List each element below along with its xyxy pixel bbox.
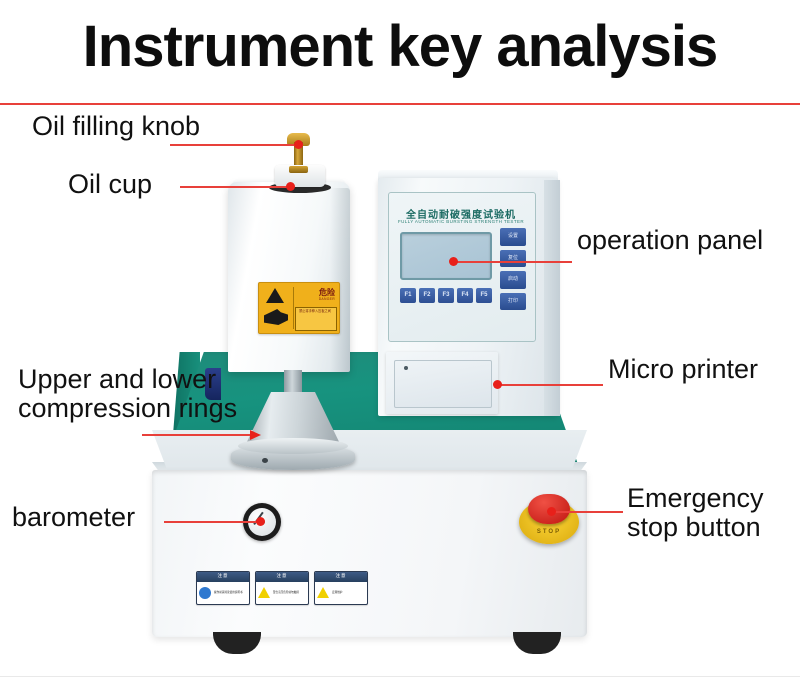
caution-body: 警告高压危险切勿触摸 xyxy=(256,582,308,604)
function-key-f3[interactable]: F3 xyxy=(438,288,454,303)
caution-header-chinese: 注意 xyxy=(315,572,367,582)
printer-status-led-icon xyxy=(404,366,408,370)
warning-triangle-icon xyxy=(317,587,330,599)
caution-sticker: 注意 警告高压危险切勿触摸 xyxy=(255,571,309,605)
leader-line-operation-panel xyxy=(453,261,572,263)
caution-text-chinese: 定期维护 xyxy=(332,591,365,595)
caution-sticker: 注意 操作前请阅读使用说明书 xyxy=(196,571,250,605)
leader-dot-oil-cup xyxy=(286,182,295,191)
caution-sticker-row: 注意 操作前请阅读使用说明书 注意 警告高压危险切勿触摸 注意 定期维护 xyxy=(196,571,368,605)
side-key-reset[interactable]: 复位 xyxy=(500,250,526,268)
side-key-column[interactable]: 设置 复位 启动 打印 xyxy=(500,228,526,310)
leader-line-micro-printer xyxy=(497,384,603,386)
hand-crush-icon xyxy=(264,309,288,325)
side-key-start[interactable]: 启动 xyxy=(500,271,526,289)
function-key-row[interactable]: F1 F2 F3 F4 F5 xyxy=(400,288,492,303)
sticker-divider xyxy=(293,287,294,329)
callout-label-emergency-stop-line2: stop button xyxy=(627,512,761,542)
function-key-f5[interactable]: F5 xyxy=(476,288,492,303)
caution-text-chinese: 操作前请阅读使用说明书 xyxy=(214,591,247,595)
info-circle-icon xyxy=(199,587,212,599)
caution-body: 定期维护 xyxy=(315,582,367,604)
caution-header-chinese: 注意 xyxy=(197,572,249,582)
base-front-panel xyxy=(152,470,587,637)
machine-foot xyxy=(513,632,561,654)
leader-dot-operation-panel xyxy=(449,257,458,266)
callout-label-compression-rings: Upper and lowercompression rings xyxy=(18,365,237,423)
callout-label-barometer: barometer xyxy=(12,503,135,532)
leader-dot-oil-filling-knob xyxy=(294,140,303,149)
lcd-display xyxy=(400,232,492,280)
leader-dot-barometer xyxy=(256,517,265,526)
callout-label-oil-filling-knob: Oil filling knob xyxy=(32,112,200,141)
caution-header-chinese: 注意 xyxy=(256,572,308,582)
function-key-f4[interactable]: F4 xyxy=(457,288,473,303)
column-shading xyxy=(330,188,350,372)
side-key-print[interactable]: 打印 xyxy=(500,293,526,311)
printer-paper-door[interactable] xyxy=(394,360,492,408)
cabinet-side xyxy=(544,180,560,416)
callout-label-oil-cup: Oil cup xyxy=(68,170,152,199)
caution-text-chinese: 警告高压危险切勿触摸 xyxy=(273,591,306,595)
leader-line-barometer xyxy=(164,521,260,523)
caution-body: 操作前请阅读使用说明书 xyxy=(197,582,249,604)
danger-body-chinese: 禁止将手伸入压板之间 xyxy=(297,309,333,314)
function-key-f2[interactable]: F2 xyxy=(419,288,435,303)
oil-cup-nut xyxy=(289,166,308,173)
danger-sticker: 危险 DANGER 禁止将手伸入压板之间 xyxy=(258,282,340,334)
callout-label-micro-printer: Micro printer xyxy=(608,355,758,384)
leader-line-oil-filling-knob xyxy=(170,144,303,146)
danger-title-english: DANGER xyxy=(319,297,335,301)
machine-foot xyxy=(213,632,261,654)
side-key-setup[interactable]: 设置 xyxy=(500,228,526,246)
ring-seat xyxy=(238,438,348,454)
leader-line-compression-rings xyxy=(142,434,252,436)
function-key-f1[interactable]: F1 xyxy=(400,288,416,303)
caution-sticker: 注意 定期维护 xyxy=(314,571,368,605)
warning-triangle-icon xyxy=(258,587,271,599)
callout-label-emergency-stop: Emergencystop button xyxy=(627,484,764,542)
leader-line-oil-cup xyxy=(180,186,292,188)
instrument-photo: 全自动耐破强度试验机 FULLY AUTOMATIC BURSTING STRE… xyxy=(0,0,800,683)
emergency-stop-engraving: STOP xyxy=(519,529,579,535)
panel-brand-english: FULLY AUTOMATIC BURSTING STRENGTH TESTER xyxy=(388,219,534,224)
warning-triangle-icon xyxy=(266,288,284,303)
callout-label-operation-panel: operation panel xyxy=(577,226,763,255)
callout-label-compression-rings-line2: compression rings xyxy=(18,393,237,423)
ring-port-icon xyxy=(262,458,268,463)
callout-label-emergency-stop-line1: Emergency xyxy=(627,483,764,513)
screenshot-root: Instrument key analysis 全自动耐破强度试验机 FULLY… xyxy=(0,0,800,683)
leader-dot-emergency-stop xyxy=(547,507,556,516)
callout-label-compression-rings-line1: Upper and lower xyxy=(18,364,216,394)
leader-dot-micro-printer xyxy=(493,380,502,389)
leader-line-emergency-stop xyxy=(551,511,623,513)
leader-arrow-compression-rings xyxy=(250,430,261,440)
bottom-divider xyxy=(0,676,800,677)
